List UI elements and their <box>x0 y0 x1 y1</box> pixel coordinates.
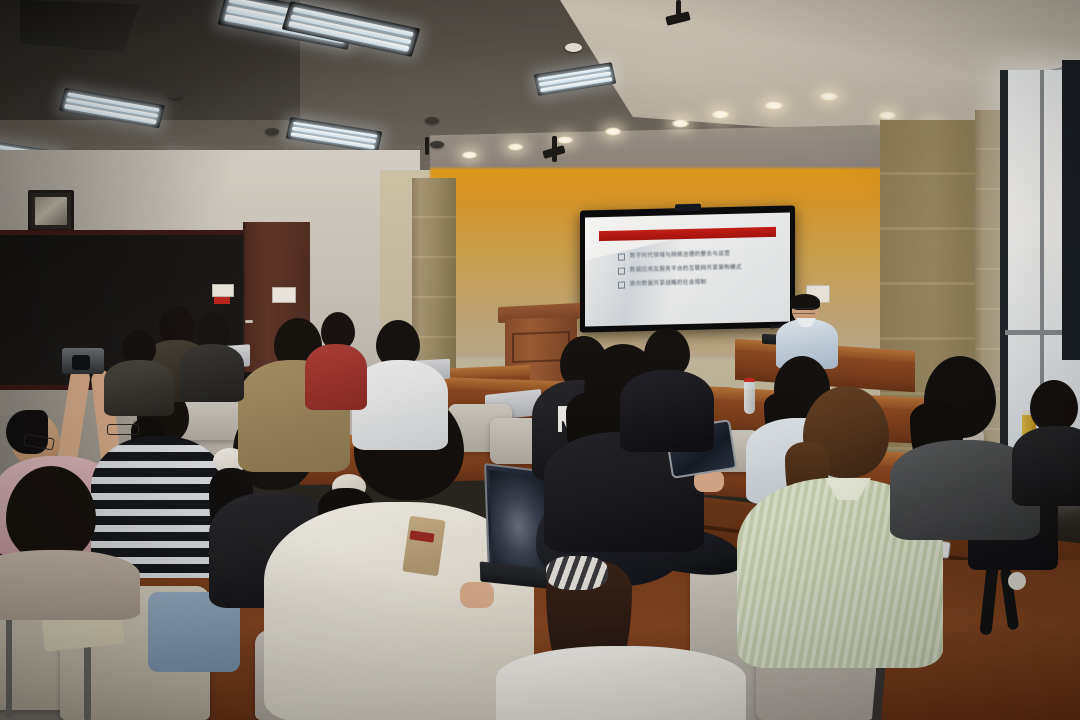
bag-charm <box>1008 572 1026 590</box>
attendee-middle <box>626 328 706 438</box>
downlight-icon <box>764 101 784 110</box>
ceiling-sensor-icon <box>265 128 279 135</box>
attendee-torso <box>1012 426 1080 506</box>
attendee-hand <box>460 582 494 608</box>
attendee-foreground-left <box>0 466 130 596</box>
attendee-torso <box>180 344 244 402</box>
attendee-far-left <box>110 330 170 410</box>
downlight-icon <box>461 151 478 159</box>
attendee-far-left <box>184 312 242 396</box>
attendee-head <box>6 466 96 562</box>
downlight-icon <box>556 136 574 144</box>
downlight-icon <box>604 127 622 136</box>
attendee-top-right <box>1022 380 1080 500</box>
window-frame-outer <box>1062 60 1080 360</box>
ac-vent-icon <box>20 0 140 52</box>
ceiling-sensor-icon <box>168 92 182 99</box>
door-notice <box>212 284 234 297</box>
attendee-red-shirt <box>305 312 367 402</box>
attendee-torso <box>0 550 140 620</box>
ceiling-smoke-detector-icon <box>565 43 582 52</box>
attendee-torso <box>104 360 174 416</box>
attendee-torso <box>620 370 714 452</box>
attendee-head <box>1030 380 1078 432</box>
downlight-icon <box>671 119 690 128</box>
ceiling-sensor-icon <box>425 117 439 124</box>
downlight-icon <box>507 143 524 151</box>
door-sign <box>272 287 296 303</box>
attendee-torso <box>496 646 746 720</box>
presenter-glasses-icon <box>793 308 815 314</box>
downlight-icon <box>711 110 730 119</box>
photographer-arm <box>57 367 92 465</box>
chair-leg <box>84 640 91 720</box>
downlight-icon <box>878 111 897 120</box>
ceiling-mount-arm <box>425 137 429 155</box>
presentation-slide: 数字时代领域与网络治理的整合与运营 数据应用及服务平台的互联网共享架构模式 面向… <box>585 212 790 326</box>
beaded-scrunchie <box>546 556 608 590</box>
attendee-grey-top <box>900 356 1030 526</box>
wall-clock-icon <box>28 190 74 232</box>
screen-glare <box>585 234 717 327</box>
seminar-room-photo: 数字时代领域与网络治理的整合与运营 数据应用及服务平台的互联网共享架构模式 面向… <box>0 0 1080 720</box>
door-sign-red-icon <box>214 297 230 304</box>
camera-lens-icon <box>72 355 90 370</box>
wall-display[interactable]: 数字时代领域与网络治理的整合与运营 数据应用及服务平台的互联网共享架构模式 面向… <box>580 205 795 332</box>
attendee-glasses-icon <box>107 424 139 435</box>
attendee-torso <box>305 344 367 410</box>
ceiling-sensor-icon <box>430 141 444 148</box>
display-camera-icon <box>675 204 701 212</box>
downlight-icon <box>819 92 839 101</box>
attendee-bag-strap <box>402 516 445 576</box>
